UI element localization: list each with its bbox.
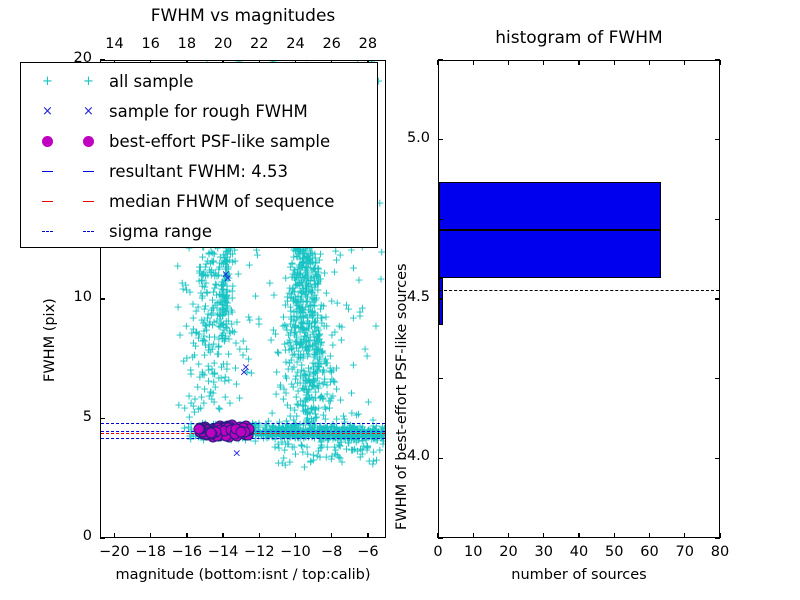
scatter-point-all-sample: + xyxy=(321,358,330,369)
x-tick-bottom xyxy=(222,533,223,538)
histogram-y-tick xyxy=(438,139,443,140)
scatter-point-all-sample: + xyxy=(232,378,241,389)
scatter-point-all-sample: + xyxy=(311,257,320,268)
legend-item-label: resultant FWHM: 4.53 xyxy=(109,162,288,181)
scatter-point-all-sample: + xyxy=(355,310,364,321)
histogram-x-tick-top xyxy=(649,60,650,65)
scatter-point-all-sample: + xyxy=(228,306,237,317)
histogram-x-tick-top xyxy=(437,60,438,65)
circle-icon xyxy=(42,136,53,147)
scatter-point-all-sample: + xyxy=(220,376,229,387)
histogram-y-ticklabel: 4.0 xyxy=(376,448,430,464)
scatter-point-all-sample: + xyxy=(269,290,278,301)
scatter-point-all-sample: + xyxy=(282,372,291,383)
scatter-point-all-sample: + xyxy=(300,305,309,316)
legend-item: ++all sample xyxy=(27,66,377,96)
histogram-y-tick-right xyxy=(715,458,720,459)
scatter-point-all-sample: + xyxy=(354,274,363,285)
plot-legend: ++all sample××sample for rough FWHMbest-… xyxy=(20,62,378,248)
histogram-y-ticklabel: 4.5 xyxy=(376,289,430,305)
histogram-bar xyxy=(439,182,661,230)
histogram-y-ticklabel: 5.0 xyxy=(376,130,430,146)
scatter-point-all-sample: + xyxy=(234,268,243,279)
scatter-point-all-sample: + xyxy=(330,267,339,278)
scatter-point-all-sample: + xyxy=(198,369,207,380)
scatter-point-all-sample: + xyxy=(371,321,380,332)
scatter-point-all-sample: + xyxy=(272,389,281,400)
histogram-xlabel: number of sources xyxy=(438,567,720,583)
scatter-point-all-sample: + xyxy=(238,350,247,361)
scatter-point-all-sample: + xyxy=(362,350,371,361)
legend-item-label: best-effort PSF-like sample xyxy=(109,132,330,151)
histogram-y-tick-right xyxy=(715,298,720,299)
legend-item: best-effort PSF-like sample xyxy=(27,126,377,156)
scatter-point-psf-like xyxy=(193,424,204,435)
plus-icon: + xyxy=(83,74,94,89)
histogram-x-tick-top xyxy=(508,60,509,65)
scatter-point-all-sample: + xyxy=(178,284,187,295)
scatter-point-all-sample: + xyxy=(230,327,239,338)
scatter-point-all-sample: + xyxy=(349,263,358,274)
histogram-y-tick xyxy=(438,458,443,459)
scatter-point-all-sample: + xyxy=(207,363,216,374)
plus-icon: + xyxy=(42,74,53,89)
scatter-point-all-sample: + xyxy=(354,408,363,419)
histogram-y-tick xyxy=(438,59,443,60)
scatter-point-all-sample: + xyxy=(199,398,208,409)
scatter-point-all-sample: + xyxy=(175,330,184,341)
legend-marker xyxy=(27,136,109,147)
legend-marker xyxy=(27,231,109,232)
scatter-point-all-sample: + xyxy=(254,318,263,329)
scatter-point-rough-fwhm: × xyxy=(232,447,241,458)
scatter-point-all-sample: + xyxy=(187,327,196,338)
legend-item-label: all sample xyxy=(109,72,194,91)
cross-icon: × xyxy=(42,104,53,119)
y-tick-left xyxy=(100,537,105,538)
scatter-point-all-sample: + xyxy=(376,273,385,284)
left-panel-ylabel: FWHM (pix) xyxy=(42,298,58,382)
scatter-point-all-sample: + xyxy=(322,320,331,331)
histogram-x-tick xyxy=(649,533,650,538)
legend-marker xyxy=(27,201,109,202)
scatter-point-all-sample: + xyxy=(286,318,295,329)
scatter-point-all-sample: + xyxy=(299,253,308,264)
scatter-point-all-sample: + xyxy=(292,391,301,402)
scatter-point-all-sample: + xyxy=(312,326,321,337)
histogram-y-tick-right xyxy=(715,219,720,220)
legend-item: ××sample for rough FWHM xyxy=(27,96,377,126)
scatter-point-rough-fwhm: × xyxy=(223,273,232,284)
histogram-x-tick xyxy=(684,533,685,538)
scatter-point-all-sample: + xyxy=(253,249,262,260)
scatter-point-all-sample: + xyxy=(221,391,230,402)
scatter-point-all-sample: + xyxy=(244,311,253,322)
scatter-point-all-sample: + xyxy=(323,441,332,452)
scatter-point-all-sample: + xyxy=(235,392,244,403)
histogram-x-tick xyxy=(578,533,579,538)
histogram-x-ticklabel: 80 xyxy=(695,544,745,560)
scatter-point-all-sample: + xyxy=(300,462,309,473)
scatter-point-all-sample: + xyxy=(302,318,311,329)
histogram-y-tick xyxy=(438,537,443,538)
scatter-point-all-sample: + xyxy=(336,250,345,261)
histogram-x-tick-top xyxy=(578,60,579,65)
scatter-point-all-sample: + xyxy=(337,321,346,332)
scatter-point-psf-like xyxy=(235,427,246,438)
histogram-x-tick xyxy=(614,533,615,538)
scatter-point-all-sample: + xyxy=(349,360,358,371)
x-tick-bottom xyxy=(114,533,115,538)
legend-marker: ×× xyxy=(27,104,109,119)
cross-icon: × xyxy=(83,104,94,119)
scatter-point-all-sample: + xyxy=(362,443,371,454)
scatter-point-all-sample: + xyxy=(186,398,195,409)
scatter-point-all-sample: + xyxy=(219,358,228,369)
scatter-point-all-sample: + xyxy=(293,280,302,291)
histogram-x-tick xyxy=(543,533,544,538)
dashed-line-icon xyxy=(83,171,94,172)
scatter-point-all-sample: + xyxy=(231,338,240,349)
scatter-point-all-sample: + xyxy=(217,290,226,301)
x-tick-bottom xyxy=(259,533,260,538)
x-tick-bottom xyxy=(331,533,332,538)
scatter-point-all-sample: + xyxy=(305,377,314,388)
scatter-point-all-sample: + xyxy=(313,366,322,377)
x-tick-bottom xyxy=(150,533,151,538)
scatter-point-all-sample: + xyxy=(316,420,325,431)
dashdot-line-icon xyxy=(83,231,94,232)
circle-icon xyxy=(83,136,94,147)
scatter-point-all-sample: + xyxy=(310,405,319,416)
scatter-point-rough-fwhm: × xyxy=(239,366,248,377)
scatter-point-all-sample: + xyxy=(200,384,209,395)
legend-item-label: sigma range xyxy=(109,222,212,241)
scatter-point-all-sample: + xyxy=(281,345,290,356)
scatter-point-all-sample: + xyxy=(337,334,346,345)
dashed-line-icon xyxy=(83,201,94,202)
histogram-y-tick-right xyxy=(715,537,720,538)
scatter-point-all-sample: + xyxy=(174,301,183,312)
x-ticklabel-top: 28 xyxy=(343,36,393,52)
scatter-point-all-sample: + xyxy=(347,388,356,399)
scatter-point-all-sample: + xyxy=(322,288,331,299)
y-tick-left xyxy=(100,418,105,419)
scatter-point-all-sample: + xyxy=(287,257,296,268)
scatter-point-all-sample: + xyxy=(251,291,260,302)
scatter-point-all-sample: + xyxy=(214,402,223,413)
x-ticklabel-bottom: −6 xyxy=(343,544,393,560)
histogram-axes xyxy=(438,60,720,538)
scatter-point-all-sample: + xyxy=(201,258,210,269)
histogram-y-tick-right xyxy=(715,378,720,379)
histogram-x-tick-top xyxy=(543,60,544,65)
legend-item-label: sample for rough FWHM xyxy=(109,102,308,121)
scatter-point-all-sample: + xyxy=(279,452,288,463)
scatter-point-all-sample: + xyxy=(209,377,218,388)
right-panel-title: histogram of FWHM xyxy=(438,28,720,48)
legend-marker: ++ xyxy=(27,74,109,89)
scatter-point-all-sample: + xyxy=(326,395,335,406)
histogram-bar xyxy=(439,278,443,326)
scatter-point-all-sample: + xyxy=(290,404,299,415)
histogram-x-tick xyxy=(508,533,509,538)
scatter-point-all-sample: + xyxy=(281,273,290,284)
scatter-point-psf-like xyxy=(206,427,217,438)
histogram-y-tick xyxy=(438,298,443,299)
scatter-point-all-sample: + xyxy=(353,446,362,457)
scatter-point-all-sample: + xyxy=(326,376,335,387)
x-tick-bottom xyxy=(186,533,187,538)
legend-item: resultant FWHM: 4.53 xyxy=(27,156,377,186)
histogram-x-tick-top xyxy=(473,60,474,65)
y-ticklabel-left: 5 xyxy=(40,409,92,425)
scatter-point-all-sample: + xyxy=(291,291,300,302)
dashed-line-icon xyxy=(42,171,53,172)
legend-item: sigma range xyxy=(27,216,377,246)
histogram-y-tick-right xyxy=(715,139,720,140)
dashdot-line-icon xyxy=(42,231,53,232)
scatter-point-all-sample: + xyxy=(268,408,277,419)
scatter-point-all-sample: + xyxy=(186,365,195,376)
scatter-point-all-sample: + xyxy=(377,246,385,257)
x-tick-bottom xyxy=(295,533,296,538)
scatter-point-all-sample: + xyxy=(315,393,324,404)
y-ticklabel-left: 10 xyxy=(40,289,92,305)
scatter-point-all-sample: + xyxy=(339,411,348,422)
scatter-point-all-sample: + xyxy=(265,278,274,289)
legend-item: median FHWM of sequence xyxy=(27,186,377,216)
histogram-y-tick xyxy=(438,219,443,220)
scatter-point-all-sample: + xyxy=(266,335,275,346)
histogram-y-tick-right xyxy=(715,59,720,60)
legend-item-label: median FHWM of sequence xyxy=(109,192,334,211)
scatter-point-all-sample: + xyxy=(273,439,282,450)
scatter-point-all-sample: + xyxy=(288,442,297,453)
histogram-x-tick-top xyxy=(684,60,685,65)
x-tick-bottom xyxy=(367,533,368,538)
left-panel-xlabel: magnitude (bottom:isnt / top:calib) xyxy=(100,567,386,583)
scatter-point-all-sample: + xyxy=(336,453,345,464)
scatter-point-all-sample: + xyxy=(197,275,206,286)
histogram-x-tick-top xyxy=(614,60,615,65)
scatter-point-all-sample: + xyxy=(298,352,307,363)
dashed-line-icon xyxy=(42,201,53,202)
scatter-point-all-sample: + xyxy=(333,297,342,308)
scatter-point-all-sample: + xyxy=(173,261,182,272)
scatter-point-all-sample: + xyxy=(197,314,206,325)
legend-marker xyxy=(27,171,109,172)
scatter-point-all-sample: + xyxy=(298,446,307,457)
scatter-point-all-sample: + xyxy=(245,260,254,271)
histogram-y-tick xyxy=(438,378,443,379)
scatter-point-all-sample: + xyxy=(272,366,281,377)
scatter-point-all-sample: + xyxy=(342,299,351,310)
left-panel-title: FWHM vs magnitudes xyxy=(100,6,386,26)
histogram-bar xyxy=(439,230,661,278)
y-ticklabel-left: 0 xyxy=(40,528,92,544)
scatter-point-all-sample: + xyxy=(182,353,191,364)
scatter-point-all-sample: + xyxy=(311,339,320,350)
histogram-x-tick-top xyxy=(719,60,720,65)
figure-canvas: FWHM vs magnitudes +++++++++++++++++++++… xyxy=(0,0,800,600)
histogram-x-tick xyxy=(473,533,474,538)
y-tick-left xyxy=(100,298,105,299)
scatter-point-all-sample: + xyxy=(364,396,373,407)
histogram-resultant-fwhm-line xyxy=(439,290,719,291)
y-tick-left xyxy=(100,59,105,60)
scatter-point-all-sample: + xyxy=(199,335,208,346)
